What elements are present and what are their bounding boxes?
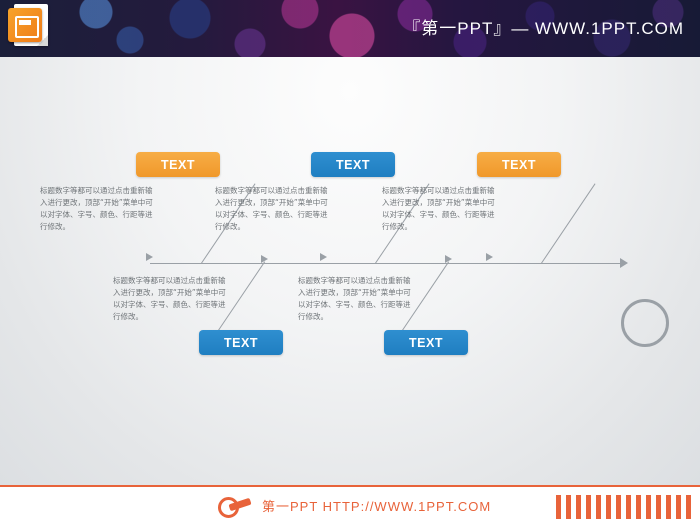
footer-bar: 第一PPT HTTP://WWW.1PPT.COM	[0, 485, 700, 525]
node-text-5: 标题数字等都可以通过点击重新输入进行更改，顶部“开始”菜单中可以对字体、字号、颜…	[298, 275, 416, 323]
node-text-4: 标题数字等都可以通过点击重新输入进行更改，顶部“开始”菜单中可以对字体、字号、颜…	[113, 275, 231, 323]
paperclip-icon	[218, 491, 252, 517]
rib-arrow-3	[486, 253, 493, 261]
node-box-1-label: TEXT	[161, 158, 195, 172]
ppt-file-icon	[8, 2, 54, 48]
rib-arrow-1	[146, 253, 153, 261]
node-box-3[interactable]: TEXT	[477, 152, 561, 177]
slide-area: TEXT TEXT TEXT TEXT TEXT 标题数字等都可以通过点击重新输…	[0, 57, 700, 485]
footer-text: 第一PPT HTTP://WWW.1PPT.COM	[262, 496, 491, 518]
node-box-2-label: TEXT	[336, 158, 370, 172]
node-text-2: 标题数字等都可以通过点击重新输入进行更改，顶部“开始”菜单中可以对字体、字号、颜…	[215, 185, 333, 233]
footer-divider	[0, 485, 700, 487]
rib-arrow-4	[261, 255, 268, 263]
top-banner: 『第一PPT』— WWW.1PPT.COM	[0, 0, 700, 57]
node-box-3-label: TEXT	[502, 158, 536, 172]
slide-canvas: 『第一PPT』— WWW.1PPT.COM TEXT TEXT TEXT	[0, 0, 700, 525]
node-text-3: 标题数字等都可以通过点击重新输入进行更改，顶部“开始”菜单中可以对字体、字号、颜…	[382, 185, 500, 233]
rib-arrow-5	[445, 255, 452, 263]
fishbone-spine	[150, 263, 624, 264]
rib-arrow-2	[320, 253, 327, 261]
footer-stripes	[556, 495, 694, 519]
node-box-2[interactable]: TEXT	[311, 152, 395, 177]
node-box-4-label: TEXT	[224, 336, 258, 350]
fish-head-circle	[621, 299, 669, 347]
node-box-1[interactable]: TEXT	[136, 152, 220, 177]
node-box-5[interactable]: TEXT	[384, 330, 468, 355]
banner-title: 『第一PPT』— WWW.1PPT.COM	[403, 0, 684, 57]
node-box-4[interactable]: TEXT	[199, 330, 283, 355]
node-text-1: 标题数字等都可以通过点击重新输入进行更改，顶部“开始”菜单中可以对字体、字号、颜…	[40, 185, 158, 233]
spine-arrow-icon	[620, 258, 628, 268]
rib-line-3	[541, 183, 596, 263]
node-box-5-label: TEXT	[409, 336, 443, 350]
